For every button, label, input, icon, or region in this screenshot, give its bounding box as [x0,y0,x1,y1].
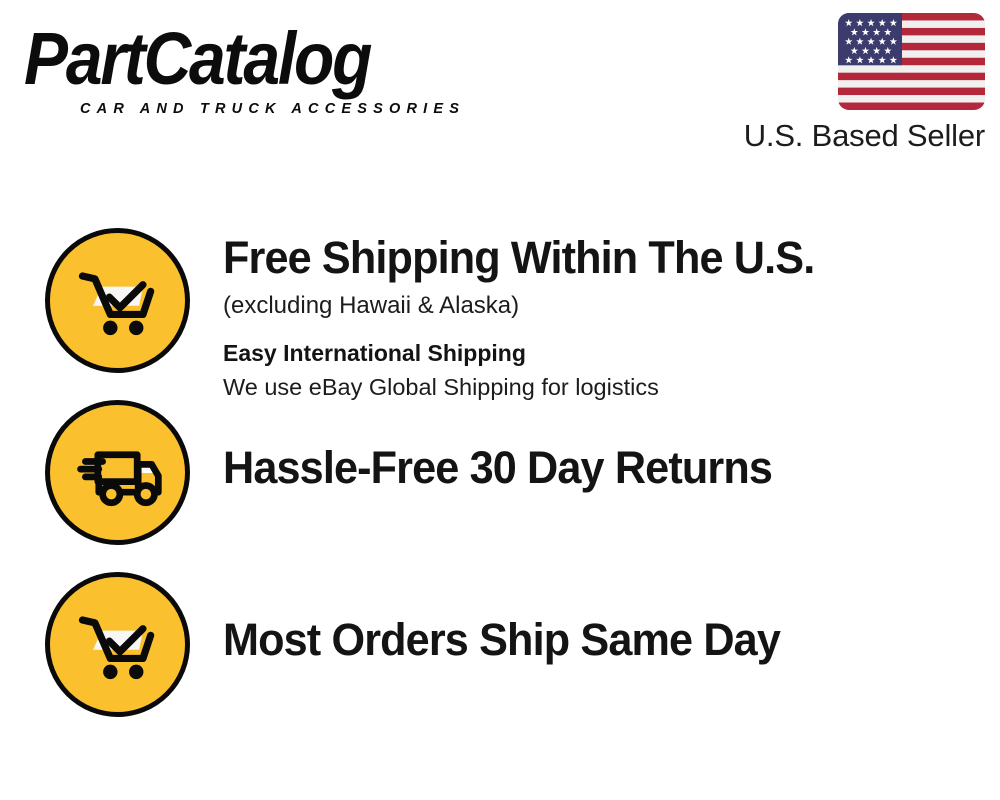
feature-text-block: Free Shipping Within The U.S. (excluding… [223,228,1000,403]
feature-subtitle: We use eBay Global Shipping for logistic… [223,371,1000,403]
delivery-truck-icon [45,400,190,545]
brand-wordmark: PartCatalog [24,18,494,99]
us-based-seller-badge: U.S. Based Seller [715,13,985,154]
shopping-cart-check-icon [45,572,190,717]
feature-row: Hassle-Free 30 Day Returns [0,400,1000,545]
feature-title: Hassle-Free 30 Day Returns [223,442,969,494]
us-based-seller-label: U.S. Based Seller [715,118,985,154]
brand-logo: PartCatalog CAR AND TRUCK ACCESSORIES [24,18,494,117]
shopping-cart-check-icon [45,228,190,373]
feature-text-block: Most Orders Ship Same Day [223,572,1000,666]
feature-subtitle-bold: Easy International Shipping [223,338,1000,368]
feature-title: Most Orders Ship Same Day [223,614,969,666]
feature-text-block: Hassle-Free 30 Day Returns [223,400,1000,494]
feature-row: Most Orders Ship Same Day [0,572,1000,717]
banner-header: PartCatalog CAR AND TRUCK ACCESSORIES [0,0,1000,170]
feature-row: Free Shipping Within The U.S. (excluding… [0,228,1000,403]
brand-tagline: CAR AND TRUCK ACCESSORIES [80,101,494,117]
feature-note: (excluding Hawaii & Alaska) [223,290,1000,322]
feature-title: Free Shipping Within The U.S. [223,232,969,284]
us-flag-icon [838,13,985,110]
